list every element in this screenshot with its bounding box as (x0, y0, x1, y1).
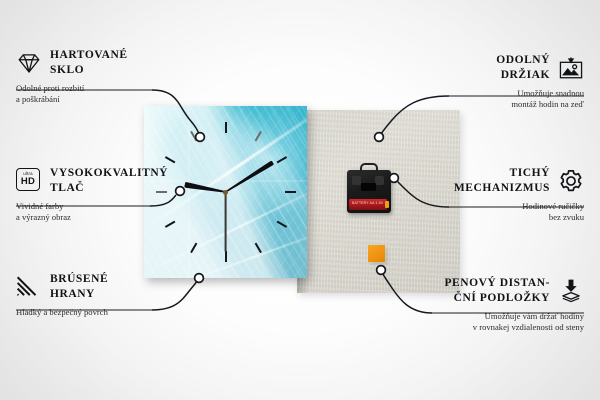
diamond-icon (16, 50, 42, 76)
feature-title: TICHÝMECHANIZMUS (454, 166, 550, 195)
gear-icon (558, 168, 584, 194)
clock-mechanism: BATTERY AA 1.5V (347, 170, 391, 213)
hanger-loop-icon (360, 163, 378, 173)
feature-description: Umožňuje snadnoumontáž hodin na zeď (414, 88, 584, 111)
feature-description: Odolné proti rozbitía poškrábání (16, 83, 186, 106)
feature-foam-spacers: PENOVÝ DISTAN-ČNÍ PODLOŽKY Umožňuje vám … (404, 276, 584, 334)
feature-header: HARTOVANÉSKLO (16, 48, 186, 77)
infographic-canvas: BATTERY AA 1.5V (0, 0, 600, 400)
feature-tempered-glass: HARTOVANÉSKLO Odolné proti rozbitía pošk… (16, 48, 186, 106)
second-hand (225, 192, 227, 252)
feature-title: HARTOVANÉSKLO (50, 48, 128, 77)
feature-description: Umožňuje vám držať hodinyv rovnakej vzdi… (404, 311, 584, 334)
feature-header: TICHÝMECHANIZMUS (414, 166, 584, 195)
feature-title: VYSOKOKVALITNÝTLAČ (50, 166, 168, 195)
clock-tick-3 (285, 191, 296, 193)
press-layers-icon (558, 278, 584, 304)
battery-label: BATTERY AA 1.5V (352, 201, 383, 205)
ultra-hd-icon: ultra HD (16, 168, 42, 194)
mechanism-slot (361, 183, 376, 191)
feature-header: ODOLNÝDRŽIAK (414, 53, 584, 82)
clock-hub (223, 190, 228, 195)
feature-description: Vividné farbya výrazný obraz (16, 201, 186, 224)
diagonal-stripes-icon (16, 274, 42, 300)
feature-ground-edges: BRÚSENÉHRANY Hladký a bezpečný povrch (16, 272, 186, 318)
feature-header: BRÚSENÉHRANY (16, 272, 186, 301)
hd-badge: ultra HD (16, 168, 40, 191)
feature-title: BRÚSENÉHRANY (50, 272, 108, 301)
feature-header: ultra HD VYSOKOKVALITNÝTLAČ (16, 166, 186, 195)
feature-description: Hodinové ručičkybez zvuku (414, 201, 584, 224)
mechanism-screw-left (352, 176, 361, 185)
foam-spacer-pad (368, 245, 385, 262)
feature-silent-mechanism: TICHÝMECHANIZMUS Hodinové ručičkybez zvu… (414, 166, 584, 224)
feature-high-quality-print: ultra HD VYSOKOKVALITNÝTLAČ Vividné farb… (16, 166, 186, 224)
battery: BATTERY AA 1.5V (349, 199, 387, 210)
hd-badge-main-text: HD (21, 177, 35, 187)
picture-frame-hanger-icon (558, 55, 584, 81)
feature-title: ODOLNÝDRŽIAK (496, 53, 550, 82)
feature-durable-hanger: ODOLNÝDRŽIAK Umožňuje snadnoumontáž hodi… (414, 53, 584, 111)
feature-header: PENOVÝ DISTAN-ČNÍ PODLOŽKY (404, 276, 584, 305)
clock-tick-6 (225, 251, 227, 262)
mechanism-screw-right (375, 176, 384, 185)
feature-title: PENOVÝ DISTAN-ČNÍ PODLOŽKY (444, 276, 550, 305)
feature-description: Hladký a bezpečný povrch (16, 307, 186, 318)
clock-tick-12 (225, 122, 227, 133)
